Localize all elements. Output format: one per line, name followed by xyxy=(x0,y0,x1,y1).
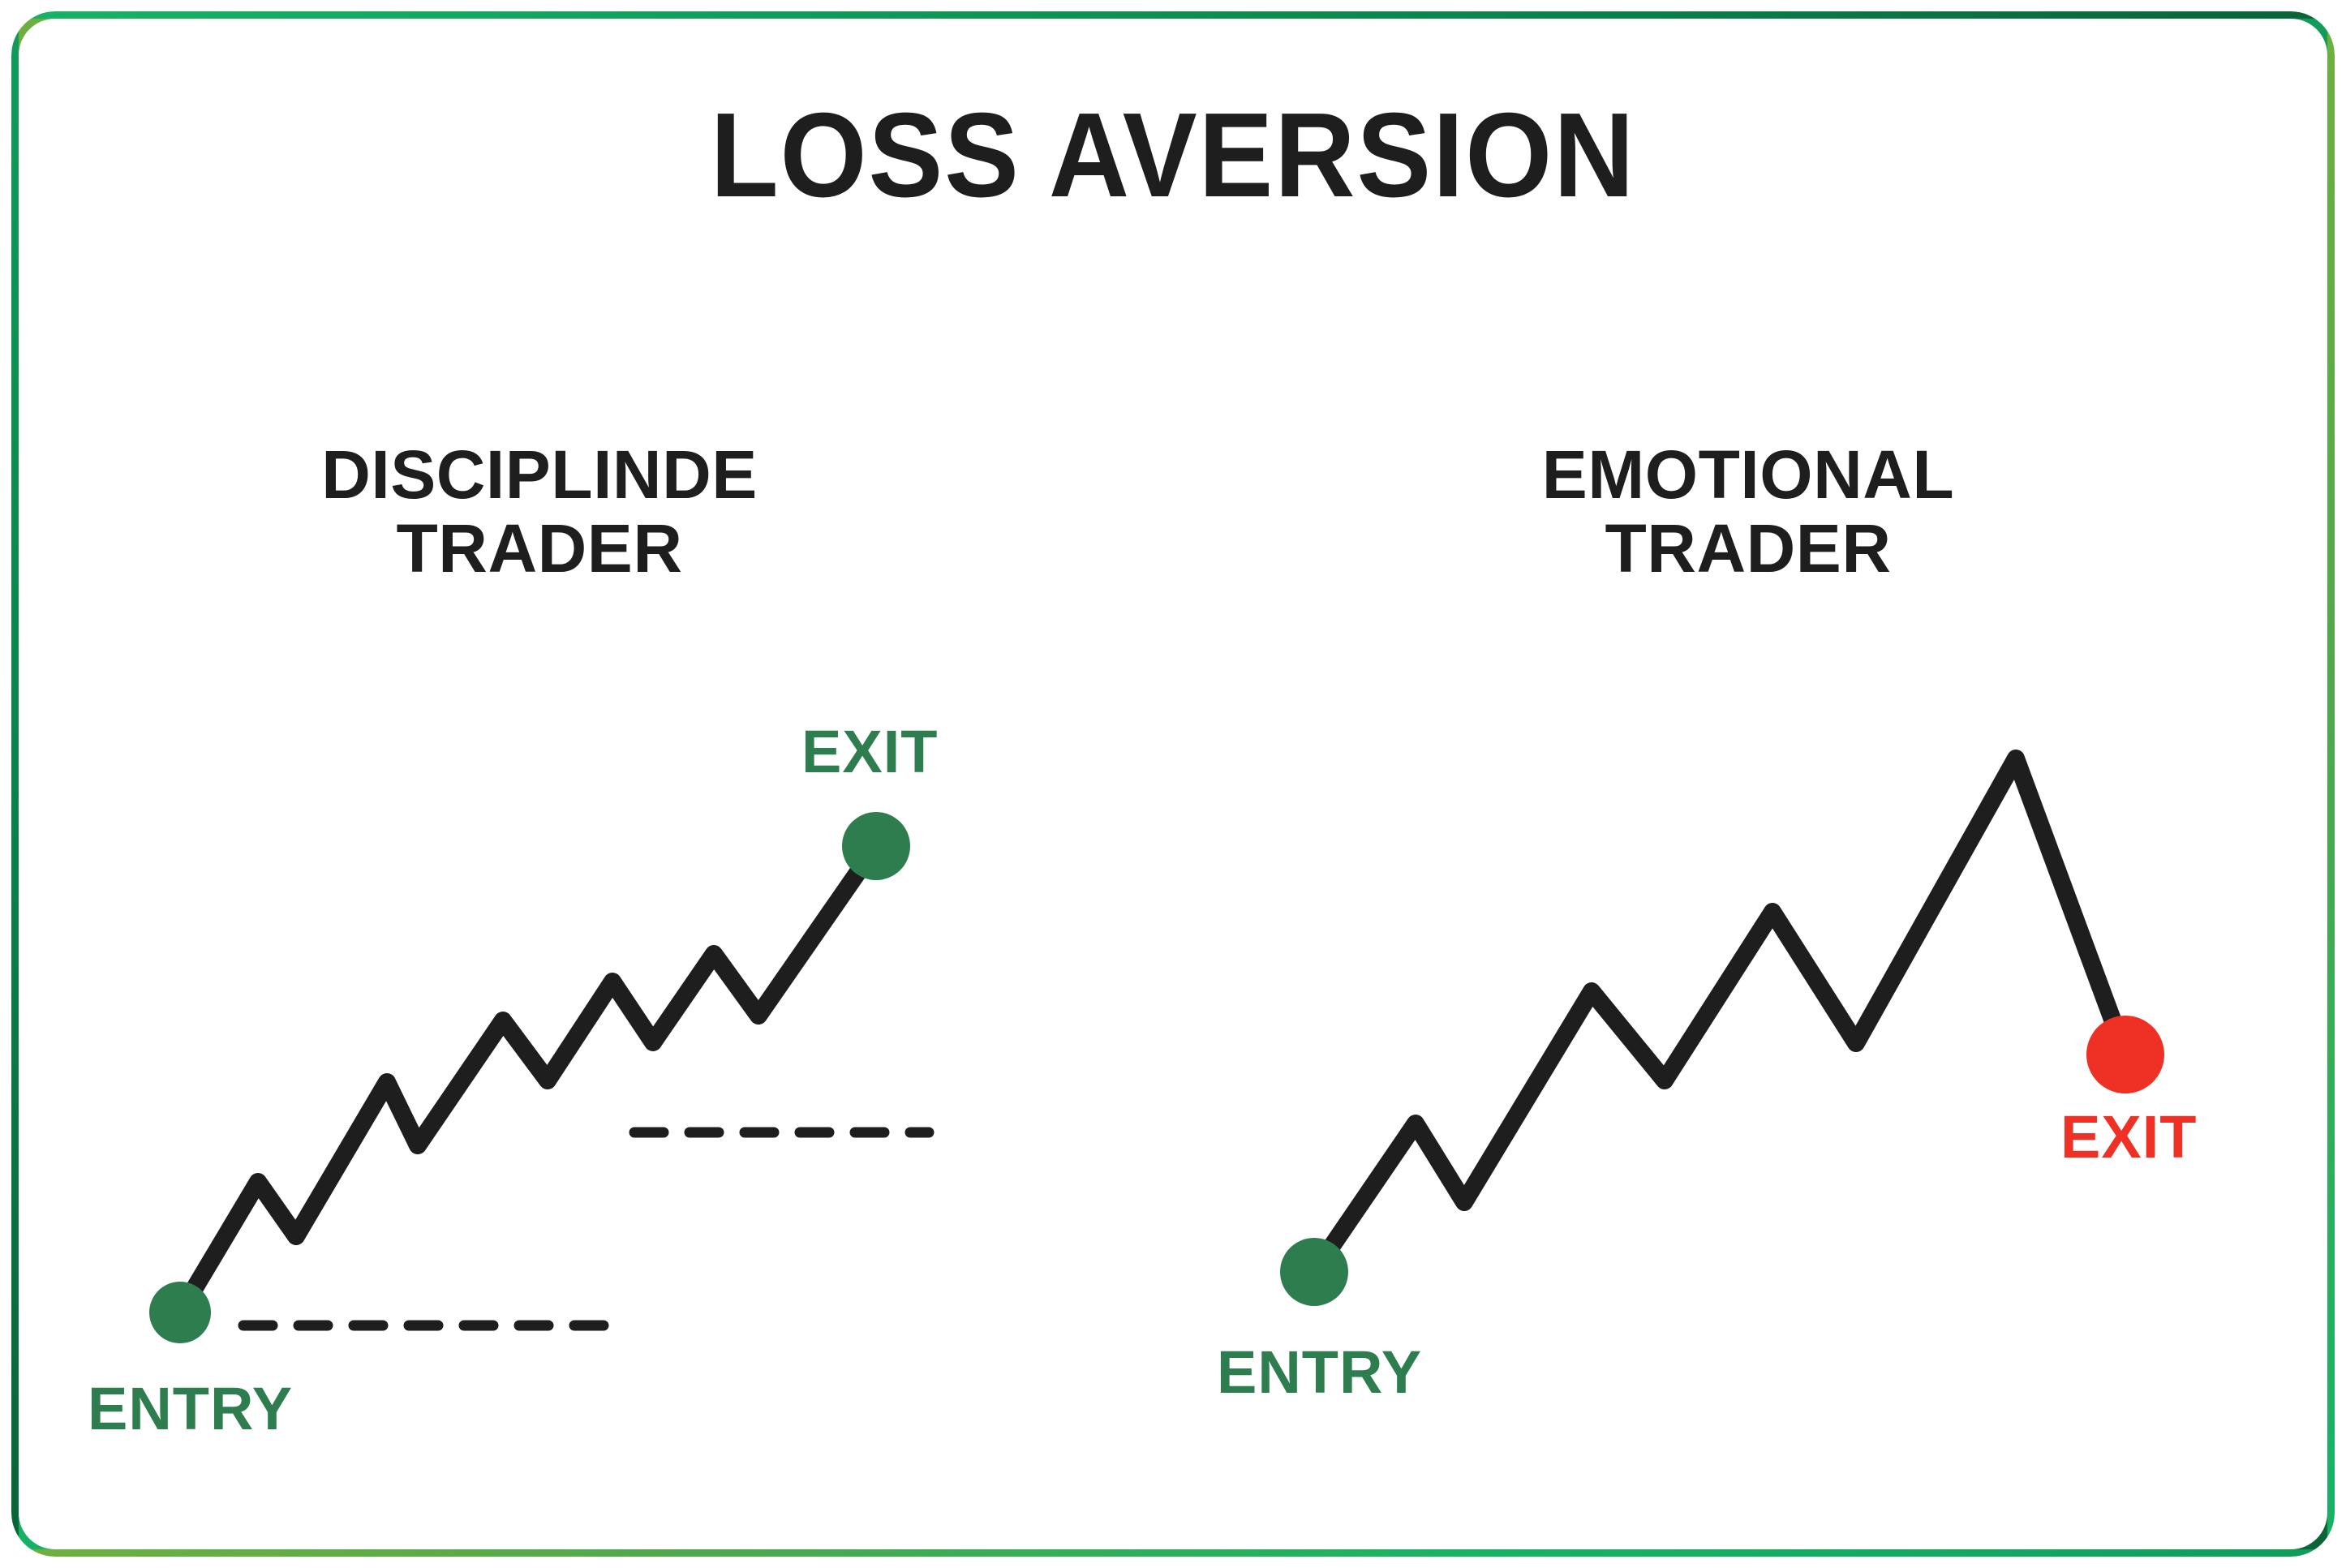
price-path xyxy=(1314,758,2125,1272)
price-path xyxy=(180,846,876,1312)
exit-dot xyxy=(2086,1016,2164,1093)
entry-dot xyxy=(1280,1238,1348,1306)
chart-disciplined-trader xyxy=(149,812,929,1343)
infographic-canvas: LOSS AVERSION DISCIPLINDE TRADER EMOTION… xyxy=(0,0,2346,1568)
exit-dot xyxy=(842,812,910,880)
exit-label-right: EXIT xyxy=(2060,1107,2197,1167)
entry-dot xyxy=(149,1282,211,1343)
entry-label-left: ENTRY xyxy=(88,1379,293,1439)
entry-label-right: ENTRY xyxy=(1217,1342,1422,1403)
charts-layer xyxy=(0,0,2346,1568)
exit-label-left: EXIT xyxy=(801,722,938,782)
chart-emotional-trader xyxy=(1280,758,2164,1306)
